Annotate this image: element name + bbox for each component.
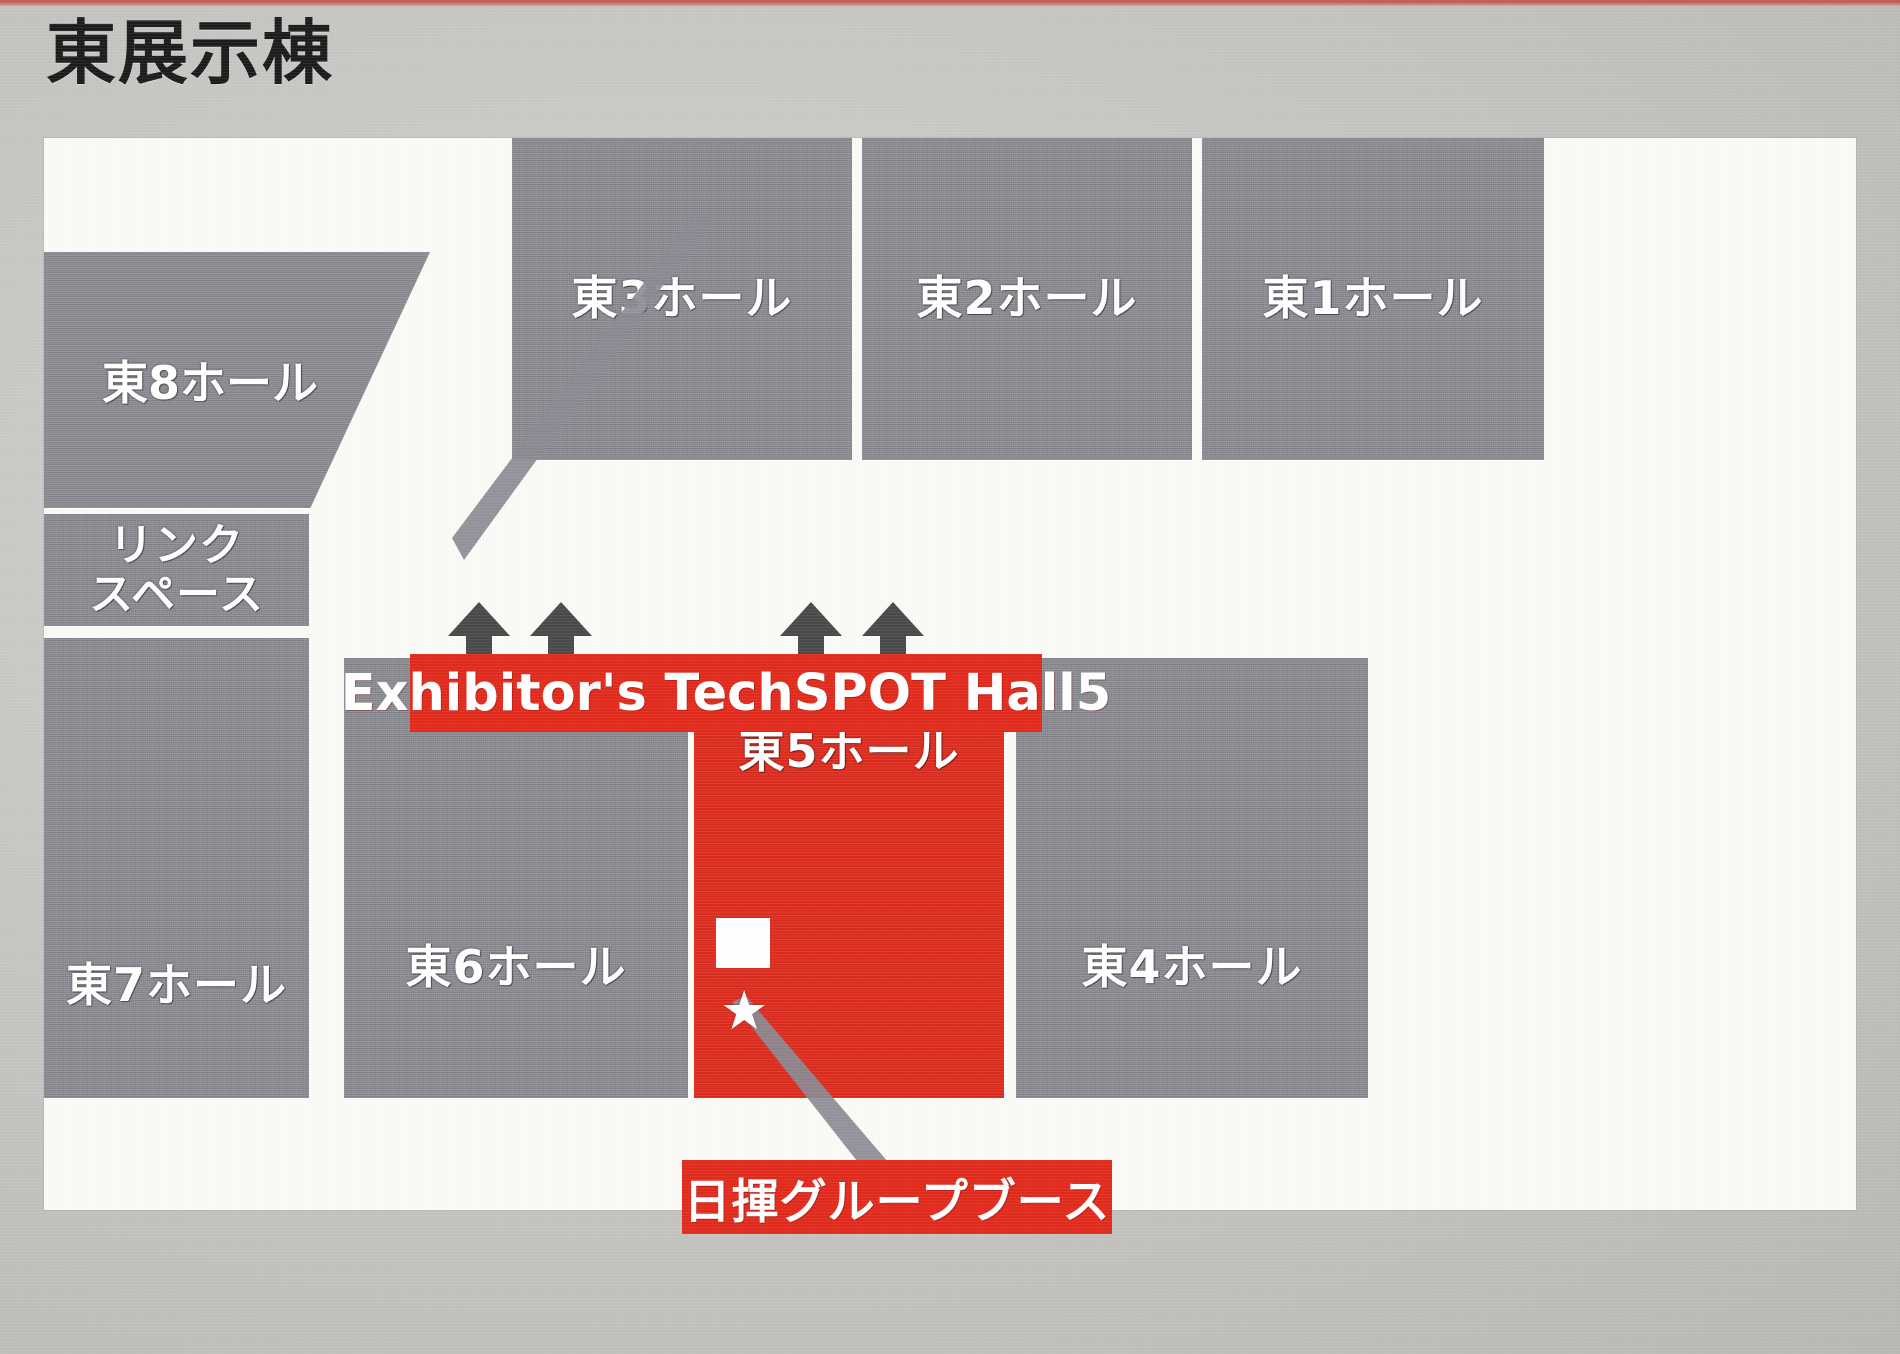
booth-banner[interactable]: 日揮グループブース bbox=[682, 1160, 1112, 1234]
booth-star-marker: ★ bbox=[720, 984, 768, 1038]
link-space-label-line1: リンク bbox=[109, 521, 244, 570]
hall-1-label: 東1ホール bbox=[1262, 273, 1483, 325]
map-stage: 東展示棟 東8ホール リンク スペース 東7ホール 東3ホール 東2ホール 東1… bbox=[0, 0, 1900, 1354]
hall-5-label: 東5ホール bbox=[738, 726, 959, 778]
page-title: 東展示棟 bbox=[46, 18, 334, 88]
hall-4-label: 東4ホール bbox=[1081, 942, 1302, 994]
link-space-block[interactable]: リンク スペース bbox=[44, 514, 309, 626]
hall-2-label: 東2ホール bbox=[916, 273, 1137, 325]
booth-square-marker bbox=[716, 918, 770, 968]
leader-line-techspot bbox=[344, 208, 764, 568]
hall-7-block[interactable]: 東7ホール bbox=[44, 638, 309, 1098]
floorplan-canvas: 東8ホール リンク スペース 東7ホール 東3ホール 東2ホール 東1ホール 東… bbox=[44, 138, 1856, 1210]
hall-8-label: 東8ホール bbox=[102, 347, 318, 413]
techspot-banner[interactable]: Exhibitor's TechSPOT Hall5 bbox=[410, 654, 1042, 732]
hall-1-block[interactable]: 東1ホール bbox=[1202, 138, 1544, 460]
hall-6-label: 東6ホール bbox=[405, 942, 626, 994]
link-space-label-line2: スペース bbox=[89, 570, 264, 619]
hall-2-block[interactable]: 東2ホール bbox=[862, 138, 1192, 460]
hall-7-label: 東7ホール bbox=[66, 960, 287, 1012]
hall-4-block[interactable]: 東4ホール bbox=[1016, 658, 1368, 1098]
